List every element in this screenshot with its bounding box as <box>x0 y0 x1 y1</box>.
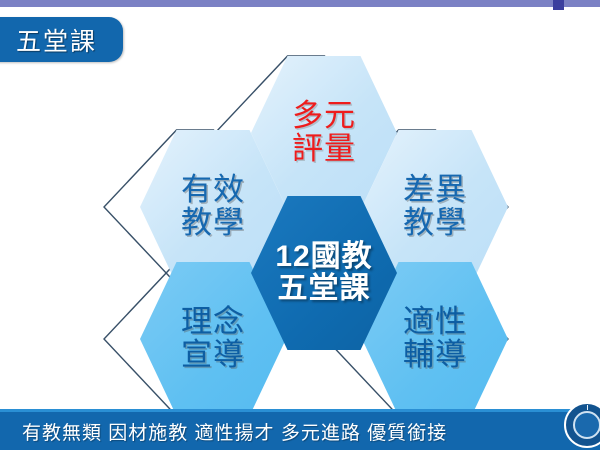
seal-inner-ring <box>573 411 600 439</box>
ministry-of-education-seal-icon <box>564 402 600 448</box>
hex-bottom-left-line2: 宣導 <box>181 339 245 372</box>
hex-bottom-right-line2: 輔導 <box>403 339 467 372</box>
hex-right-line2: 教學 <box>403 207 467 240</box>
hex-bottom-left-line1: 理念 <box>181 306 245 339</box>
hex-top-line2: 評量 <box>292 133 356 166</box>
page-title: 五堂課 <box>16 22 97 58</box>
top-decoration-bar <box>0 0 600 7</box>
footer-slogan: 有教無類 因材施教 適性揚才 多元進路 優質銜接 <box>0 418 447 445</box>
top-bar-marker <box>553 0 564 10</box>
hex-center-line1: 12國教 <box>275 241 372 273</box>
hex-right-line1: 差異 <box>403 174 467 207</box>
hex-center-line2: 五堂課 <box>278 273 371 305</box>
hex-left-line2: 教學 <box>181 207 245 240</box>
hex-left-line1: 有效 <box>181 174 245 207</box>
seal-tick <box>587 405 588 410</box>
slide-title-pill: 五堂課 <box>0 17 123 62</box>
hex-bottom-right-line1: 適性 <box>403 306 467 339</box>
hex-top-line1: 多元 <box>292 100 356 133</box>
hexagon-diagram: 多元 評量 有效 教學 差異 教學 理念 宣導 適性 輔導 12國教 五堂課 <box>0 0 600 450</box>
footer-banner: 有教無類 因材施教 適性揚才 多元進路 優質銜接 <box>0 412 600 450</box>
